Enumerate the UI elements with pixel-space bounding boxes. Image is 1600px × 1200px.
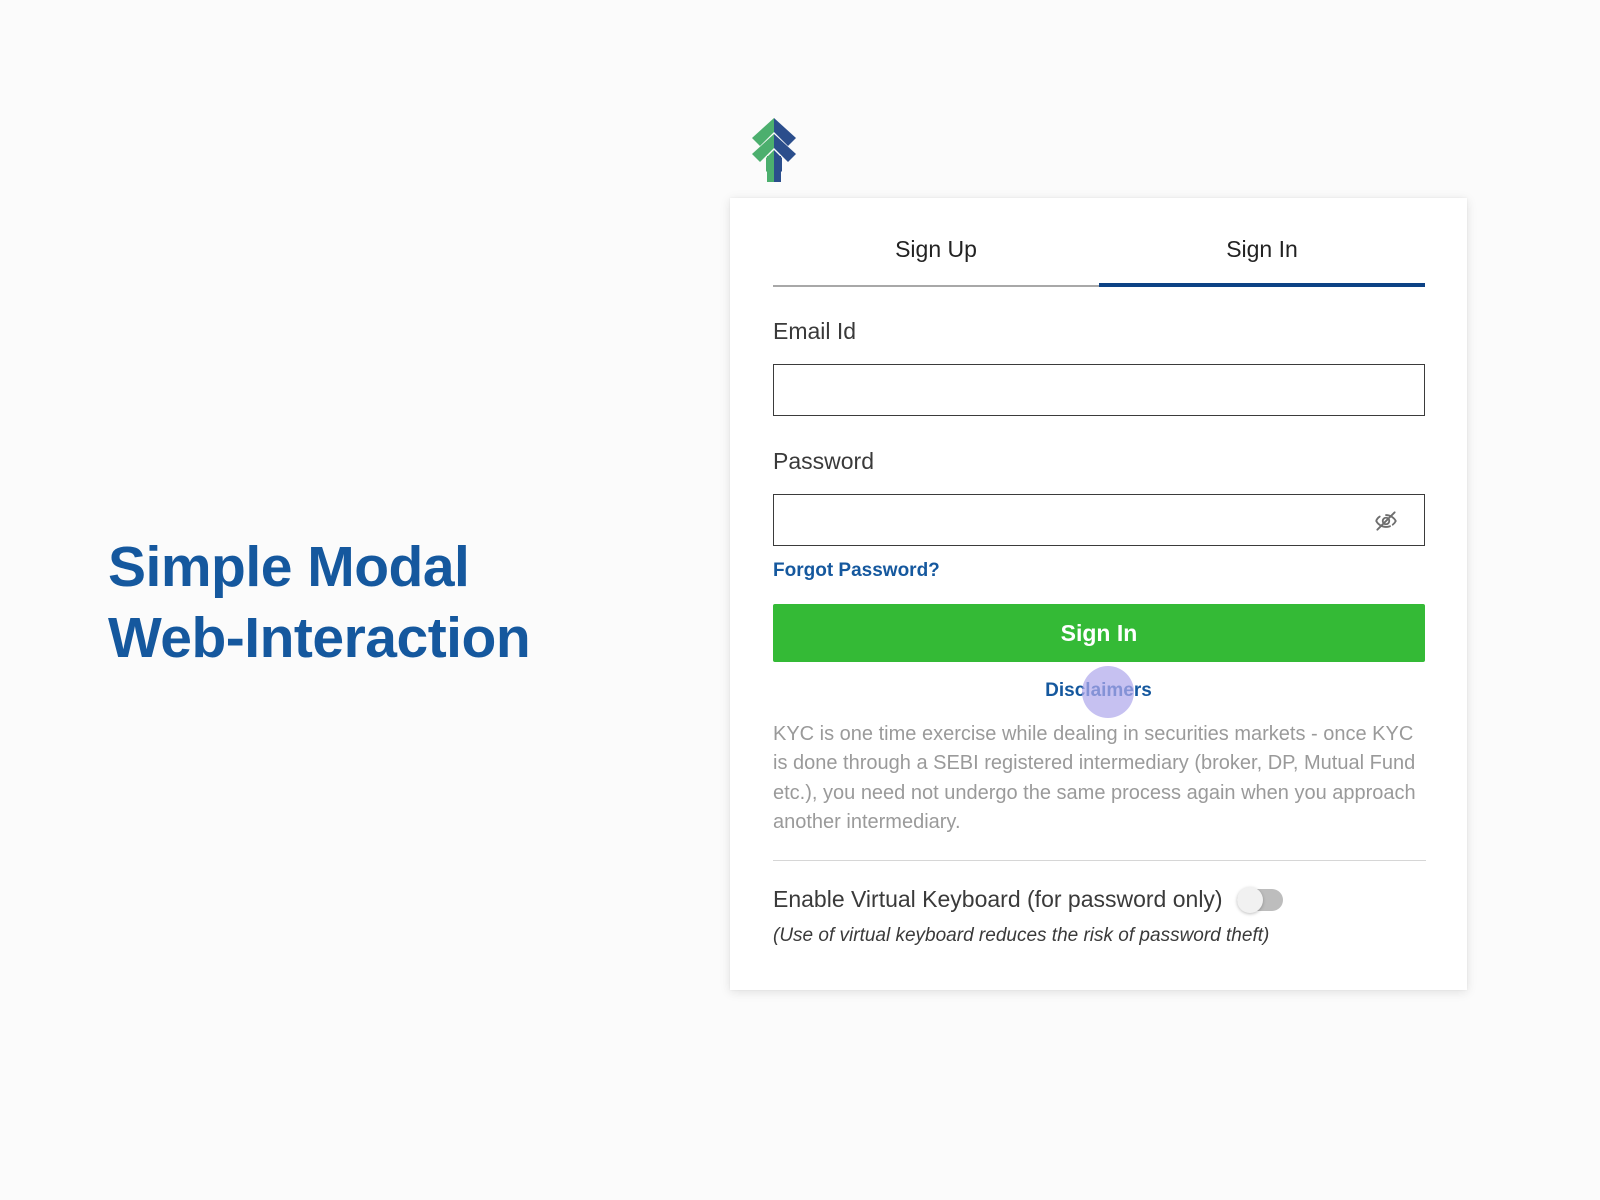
brand-logo-icon [744,112,804,184]
email-label: Email Id [773,318,856,345]
page-title-line-1: Simple Modal [108,532,668,603]
signin-card: Sign Up Sign In Email Id Password Forgot… [730,198,1467,990]
password-label: Password [773,448,874,475]
email-input[interactable] [773,364,1425,416]
page-title-line-2: Web-Interaction [108,603,668,674]
disclaimers-link[interactable]: Disclaimers [730,680,1467,702]
toggle-knob [1237,887,1263,913]
tab-sign-in-label: Sign In [1226,236,1298,262]
tab-sign-up-label: Sign Up [895,236,977,262]
virtual-keyboard-label: Enable Virtual Keyboard (for password on… [773,886,1223,913]
eye-off-icon[interactable] [1371,508,1401,534]
virtual-keyboard-row: Enable Virtual Keyboard (for password on… [773,886,1283,913]
tab-sign-up[interactable]: Sign Up [773,236,1099,287]
section-divider [773,860,1426,861]
kyc-disclaimer-text: KYC is one time exercise while dealing i… [773,720,1428,838]
virtual-keyboard-note: (Use of virtual keyboard reduces the ris… [773,925,1269,947]
virtual-keyboard-toggle[interactable] [1237,889,1283,911]
password-input[interactable] [773,494,1425,546]
sign-in-button[interactable]: Sign In [773,604,1425,662]
auth-tabs: Sign Up Sign In [773,236,1425,287]
forgot-password-link[interactable]: Forgot Password? [773,560,940,582]
page-title: Simple Modal Web-Interaction [108,532,668,673]
tab-sign-in[interactable]: Sign In [1099,236,1425,287]
